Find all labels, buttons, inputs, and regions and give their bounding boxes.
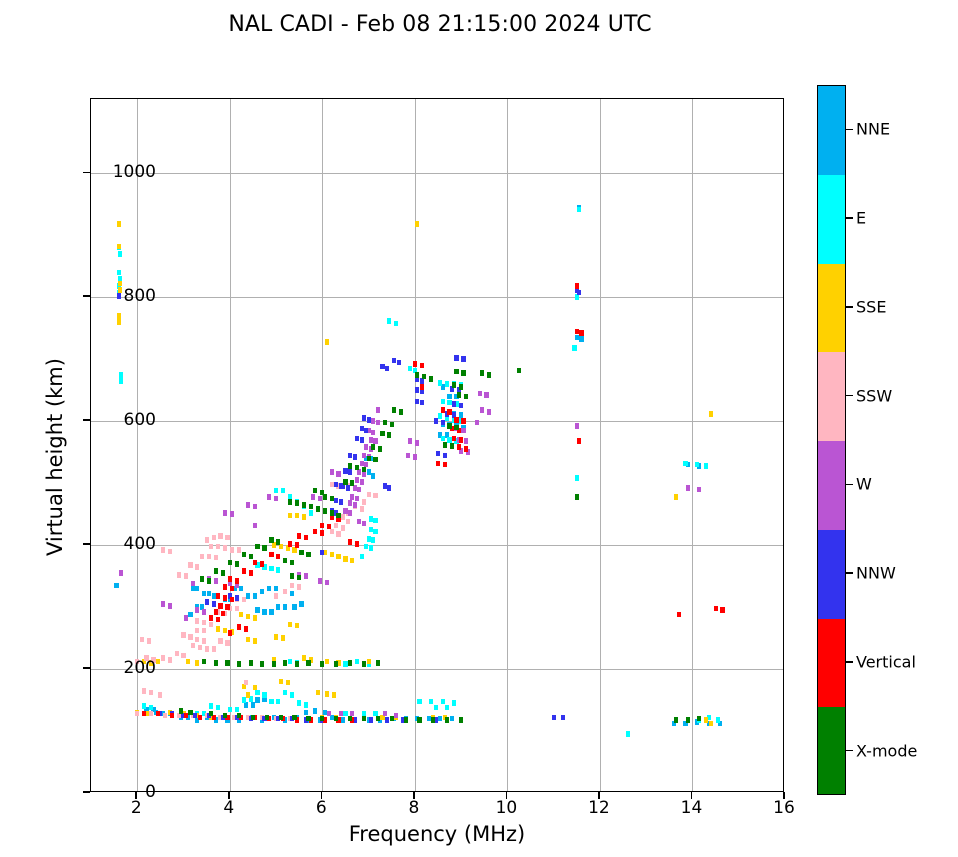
data-point-ssw <box>346 519 350 525</box>
colorbar-band-ssw[interactable] <box>818 352 845 441</box>
data-point-nnw <box>343 468 347 474</box>
data-point-w <box>394 713 398 719</box>
data-point-x-mode <box>306 660 310 666</box>
data-point-sse <box>704 717 708 723</box>
y-tick-mark <box>83 791 90 793</box>
data-point-sse <box>302 514 306 520</box>
data-point-vertical <box>464 446 468 452</box>
data-point-x-mode <box>255 544 259 550</box>
data-point-w <box>253 523 257 529</box>
data-point-x-mode <box>415 372 419 378</box>
x-tick-mark <box>413 792 415 799</box>
data-point-x-mode <box>348 716 352 722</box>
data-point-x-mode <box>517 368 521 374</box>
data-point-vertical <box>156 711 160 717</box>
data-point-sse <box>216 626 220 632</box>
data-point-nne <box>244 702 248 708</box>
data-point-x-mode <box>262 545 266 551</box>
data-point-nnw <box>385 366 389 372</box>
colorbar-label-vertical: Vertical <box>856 652 916 671</box>
data-point-e <box>441 399 445 405</box>
data-point-x-mode <box>200 576 204 582</box>
data-point-e <box>367 536 371 542</box>
data-point-e <box>438 380 442 386</box>
data-point-ssw <box>142 688 146 694</box>
x-tick-mark <box>228 792 230 799</box>
data-point-nnw <box>380 364 384 370</box>
data-point-ssw <box>209 544 213 550</box>
data-point-ssw <box>158 692 162 698</box>
data-point-x-mode <box>480 370 484 376</box>
data-point-x-mode <box>387 432 391 438</box>
data-point-vertical <box>244 626 248 632</box>
colorbar-band-e[interactable] <box>818 175 845 264</box>
data-point-nnw <box>355 436 359 442</box>
colorbar-label-ssw: SSW <box>856 386 892 405</box>
data-point-ssw <box>225 640 229 646</box>
data-point-sse <box>302 655 306 661</box>
data-point-nnw <box>360 426 364 432</box>
data-point-w <box>191 581 195 587</box>
data-point-ssw <box>341 525 345 531</box>
data-point-x-mode <box>283 558 287 564</box>
data-point-x-mode <box>269 537 273 543</box>
data-point-ssw <box>195 637 199 643</box>
data-point-w <box>202 609 206 615</box>
data-point-nnw <box>320 550 324 556</box>
data-point-w <box>362 453 366 459</box>
data-point-x-mode <box>461 370 465 376</box>
data-point-vertical <box>304 535 308 541</box>
data-point-nnw <box>334 498 338 504</box>
data-point-nne <box>246 593 250 599</box>
data-point-ssw <box>334 523 338 529</box>
data-point-nne <box>267 586 271 592</box>
data-point-ssw <box>237 547 241 553</box>
data-point-x-mode <box>686 717 690 723</box>
data-point-sse <box>336 554 340 560</box>
x-tick-mark <box>506 792 508 799</box>
data-point-w <box>357 519 361 525</box>
data-point-ssw <box>212 535 216 541</box>
data-point-ssw <box>195 564 199 570</box>
data-point-nnw <box>415 399 419 405</box>
data-points-layer <box>91 99 783 791</box>
data-point-w <box>318 578 322 584</box>
colorbar-band-vertical[interactable] <box>818 619 845 708</box>
data-point-e <box>394 321 398 327</box>
data-point-e <box>445 381 449 387</box>
data-point-w <box>195 607 199 613</box>
data-point-x-mode <box>260 661 264 667</box>
data-point-ssw <box>181 653 185 659</box>
colorbar-band-nne[interactable] <box>818 86 845 175</box>
data-point-w <box>357 487 361 493</box>
data-point-e <box>242 697 246 703</box>
data-point-nne <box>255 697 259 703</box>
data-point-x-mode <box>343 479 347 485</box>
data-point-vertical <box>452 436 456 442</box>
data-point-x-mode <box>272 661 276 667</box>
data-point-vertical <box>223 584 227 590</box>
data-point-ssw <box>216 544 220 550</box>
data-point-e <box>417 699 421 705</box>
data-point-e <box>262 692 266 698</box>
data-point-ssw <box>191 643 195 649</box>
data-point-sse <box>288 513 292 519</box>
data-point-x-mode <box>320 716 324 722</box>
colorbar-tick <box>846 217 853 219</box>
data-point-x-mode <box>297 575 301 581</box>
data-point-e <box>117 270 121 276</box>
data-point-w <box>230 511 234 517</box>
data-point-vertical <box>230 586 234 592</box>
data-point-e <box>119 372 123 378</box>
data-point-x-mode <box>299 550 303 556</box>
data-point-nne <box>253 593 257 599</box>
data-point-x-mode <box>309 504 313 510</box>
data-point-vertical <box>218 603 222 609</box>
data-point-nne <box>447 394 451 400</box>
data-point-vertical <box>142 711 146 717</box>
colorbar-label-x-mode: X-mode <box>856 741 917 760</box>
data-point-x-mode <box>235 561 239 567</box>
data-point-w <box>348 500 352 506</box>
data-point-ssw <box>230 547 234 553</box>
data-point-x-mode <box>350 480 354 486</box>
data-point-x-mode <box>373 457 377 463</box>
x-tick-label: 12 <box>588 798 610 818</box>
data-point-nne <box>575 335 579 341</box>
data-point-nnw <box>461 356 465 362</box>
data-point-e <box>228 707 232 713</box>
data-point-e <box>343 661 347 667</box>
data-point-vertical <box>276 554 280 560</box>
data-point-vertical <box>575 283 579 289</box>
data-point-w <box>355 477 359 483</box>
data-point-nnw <box>387 485 391 491</box>
data-point-e <box>441 699 445 705</box>
colorbar-label-w: W <box>856 475 872 494</box>
data-point-vertical <box>209 615 213 621</box>
data-point-ssw <box>195 628 199 634</box>
data-point-vertical <box>295 542 299 548</box>
data-point-vertical <box>579 330 583 336</box>
data-point-x-mode <box>392 407 396 413</box>
data-point-ssw <box>225 535 229 541</box>
data-point-nnw <box>339 499 343 505</box>
x-tick-mark <box>598 792 600 799</box>
data-point-nnw <box>117 293 121 299</box>
data-point-w <box>348 510 352 516</box>
data-point-vertical <box>253 560 257 566</box>
plot-area <box>90 98 784 792</box>
data-point-sse <box>286 680 290 686</box>
data-point-x-mode <box>221 570 225 576</box>
data-point-sse <box>332 692 336 698</box>
data-point-x-mode <box>355 465 359 471</box>
data-point-sse <box>415 221 419 227</box>
data-point-w <box>336 471 340 477</box>
data-point-nnw <box>436 451 440 457</box>
colorbar-tick <box>846 661 853 663</box>
data-point-e <box>369 545 373 551</box>
x-axis-label: Frequency (MHz) <box>90 822 784 846</box>
data-point-nne <box>212 593 216 599</box>
colorbar-band-nnw[interactable] <box>818 530 845 619</box>
data-point-w <box>304 573 308 579</box>
colorbar-band-w[interactable] <box>818 441 845 530</box>
data-point-e <box>343 711 347 717</box>
data-point-w <box>168 603 172 609</box>
data-point-x-mode <box>383 420 387 426</box>
data-point-e <box>626 731 630 737</box>
data-point-x-mode <box>487 372 491 378</box>
data-point-ssw <box>195 618 199 624</box>
data-point-x-mode <box>279 715 283 721</box>
x-tick-mark <box>783 792 785 799</box>
colorbar-label-nne: NNE <box>856 120 890 139</box>
data-point-vertical <box>457 444 461 450</box>
data-point-e <box>373 529 377 535</box>
data-point-x-mode <box>334 716 338 722</box>
data-point-nne <box>274 586 278 592</box>
data-point-sse <box>246 692 250 698</box>
ionogram-figure: NAL CADI - Feb 08 21:15:00 2024 UTC 0200… <box>0 0 958 857</box>
data-point-x-mode <box>454 369 458 375</box>
data-point-vertical <box>327 524 331 530</box>
data-point-x-mode <box>188 710 192 716</box>
data-point-x-mode <box>265 715 269 721</box>
data-point-vertical <box>216 617 220 623</box>
data-point-nne <box>313 708 317 714</box>
x-tick-label: 8 <box>408 798 419 818</box>
data-point-nnw <box>339 483 343 489</box>
data-point-vertical <box>235 578 239 584</box>
data-point-vertical <box>184 713 188 719</box>
data-point-vertical <box>237 624 241 630</box>
data-point-x-mode <box>380 431 384 437</box>
data-point-vertical <box>714 606 718 612</box>
data-point-vertical <box>313 529 317 535</box>
data-point-nnw <box>346 485 350 491</box>
data-point-sse <box>272 542 276 548</box>
data-point-sse <box>325 691 329 697</box>
data-point-x-mode <box>295 500 299 506</box>
y-tick-label: 200 <box>124 658 156 678</box>
data-point-ssw <box>297 584 301 590</box>
data-point-nnw <box>334 482 338 488</box>
data-point-nne <box>459 412 463 418</box>
data-point-w <box>575 423 579 429</box>
data-point-nnw <box>212 601 216 607</box>
data-point-x-mode <box>452 382 456 388</box>
data-point-ssw <box>149 711 153 717</box>
data-point-x-mode <box>336 513 340 519</box>
data-point-vertical <box>436 461 440 467</box>
data-point-w <box>161 601 165 607</box>
data-point-nne <box>188 612 192 618</box>
colorbar-band-sse[interactable] <box>818 264 845 353</box>
data-point-nne <box>195 586 199 592</box>
data-point-w <box>223 510 227 516</box>
data-point-nne <box>290 591 294 597</box>
data-point-nnw <box>415 387 419 393</box>
data-point-nnw <box>348 453 352 459</box>
data-point-sse <box>281 635 285 641</box>
data-point-vertical <box>447 409 451 415</box>
data-point-x-mode <box>237 661 241 667</box>
colorbar[interactable] <box>817 85 846 795</box>
data-point-nnw <box>561 715 565 721</box>
data-point-ssw <box>214 555 218 561</box>
colorbar-band-x-mode[interactable] <box>818 707 845 795</box>
data-point-nnw <box>420 400 424 406</box>
data-point-nne <box>371 473 375 479</box>
data-point-nnw <box>454 355 458 361</box>
data-point-vertical <box>198 715 202 721</box>
data-point-sse <box>367 659 371 665</box>
data-point-w <box>686 485 690 491</box>
data-point-ssw <box>373 493 377 499</box>
data-point-x-mode <box>316 506 320 512</box>
data-point-x-mode <box>674 717 678 723</box>
data-point-w <box>371 418 375 424</box>
data-point-ssw <box>181 632 185 638</box>
data-point-x-mode <box>399 409 403 415</box>
data-point-ssw <box>218 533 222 539</box>
data-point-ssw <box>362 499 366 505</box>
data-point-x-mode <box>362 661 366 667</box>
data-point-vertical <box>170 713 174 719</box>
data-point-ssw <box>140 637 144 643</box>
data-point-vertical <box>413 361 417 367</box>
x-tick-mark <box>321 792 323 799</box>
data-point-e <box>255 690 259 696</box>
data-point-sse <box>709 411 713 417</box>
data-point-sse <box>253 615 257 621</box>
data-point-ssw <box>367 492 371 498</box>
data-point-e <box>119 378 123 384</box>
data-point-x-mode <box>202 659 206 665</box>
data-point-x-mode <box>429 376 433 382</box>
data-point-x-mode <box>237 713 241 719</box>
data-point-vertical <box>269 552 273 558</box>
data-point-sse <box>117 244 121 250</box>
data-point-x-mode <box>443 442 447 448</box>
data-point-vertical <box>443 462 447 468</box>
data-point-e <box>297 700 301 706</box>
data-point-x-mode <box>225 660 229 666</box>
data-point-ssw <box>149 690 153 696</box>
data-point-e <box>577 207 581 213</box>
data-point-ssw <box>135 711 139 717</box>
data-point-nnw <box>459 403 463 409</box>
data-point-ssw <box>202 628 206 634</box>
data-point-w <box>408 438 412 444</box>
data-point-w <box>697 487 701 493</box>
data-point-nne <box>207 591 211 597</box>
data-point-ssw <box>168 657 172 663</box>
data-point-e <box>429 699 433 705</box>
data-point-vertical <box>355 541 359 547</box>
data-point-vertical <box>454 417 458 423</box>
data-point-vertical <box>242 568 246 574</box>
data-point-nnw <box>205 599 209 605</box>
data-point-x-mode <box>276 539 280 545</box>
data-point-nnw <box>383 483 387 489</box>
data-point-w <box>343 508 347 514</box>
data-point-w <box>406 453 410 459</box>
colorbar-tick <box>846 484 853 486</box>
x-tick-label: 10 <box>496 798 518 818</box>
data-point-nne <box>438 716 442 722</box>
data-point-ssw <box>184 573 188 579</box>
data-point-sse <box>343 556 347 562</box>
data-point-ssw <box>336 531 340 537</box>
data-point-sse <box>246 614 250 620</box>
data-point-e <box>276 567 280 573</box>
data-point-e <box>387 318 391 324</box>
data-point-vertical <box>221 611 225 617</box>
y-tick-label: 400 <box>124 534 156 554</box>
colorbar-tick <box>846 395 853 397</box>
data-point-sse <box>279 679 283 685</box>
data-point-sse <box>117 319 121 325</box>
data-point-e <box>438 413 442 419</box>
data-point-ssw <box>177 572 181 578</box>
data-point-vertical <box>720 607 724 613</box>
data-point-x-mode <box>320 661 324 667</box>
data-point-sse <box>253 638 257 644</box>
data-point-w <box>371 430 375 436</box>
data-point-e <box>575 294 579 300</box>
data-point-w <box>478 391 482 397</box>
data-point-ssw <box>274 593 278 599</box>
data-point-e <box>281 488 285 494</box>
y-tick-label: 1000 <box>113 162 156 182</box>
data-point-e <box>304 702 308 708</box>
data-point-w <box>330 469 334 475</box>
data-point-e <box>142 703 146 709</box>
data-point-ssw <box>202 620 206 626</box>
data-point-x-mode <box>214 660 218 666</box>
data-point-ssw <box>290 583 294 589</box>
data-point-w <box>487 409 491 415</box>
data-point-nne <box>367 469 371 475</box>
data-point-e <box>276 699 280 705</box>
data-point-ssw <box>360 506 364 512</box>
data-point-e <box>434 705 438 711</box>
data-point-x-mode <box>417 717 421 723</box>
data-point-e <box>373 518 377 524</box>
data-point-ssw <box>212 646 216 652</box>
data-point-x-mode <box>292 715 296 721</box>
data-point-x-mode <box>348 660 352 666</box>
y-tick-mark <box>83 419 90 421</box>
data-point-nne <box>299 601 303 607</box>
data-point-e <box>235 707 239 713</box>
data-point-x-mode <box>697 716 701 722</box>
data-point-nnw <box>362 415 366 421</box>
data-point-nne <box>114 583 118 589</box>
data-point-sse <box>709 721 713 727</box>
data-point-nne <box>292 604 296 610</box>
data-point-e <box>716 717 720 723</box>
data-point-x-mode <box>290 573 294 579</box>
data-point-e <box>290 692 294 698</box>
data-point-nne <box>239 586 243 592</box>
